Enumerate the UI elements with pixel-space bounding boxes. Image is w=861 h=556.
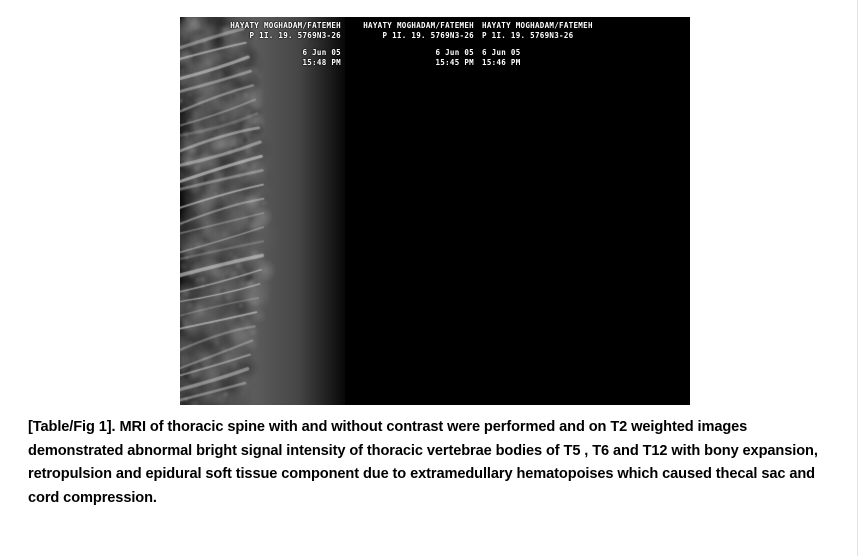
mri-panel-2: HAYATY MOGHADAM/FATEMEH P 1I. 19. 5769N3… (345, 17, 478, 405)
page-edge-rule (857, 0, 858, 556)
mri-panel-3: HAYATY MOGHADAM/FATEMEH P 1I. 19. 5769N3… (478, 17, 690, 405)
mri-figure-plate: HAYATY MOGHADAM/FATEMEH P 1I. 19. 5769N3… (180, 17, 690, 405)
mri-image-panel-1 (180, 17, 345, 405)
figure-caption: [Table/Fig 1]. MRI of thoracic spine wit… (28, 416, 818, 510)
mri-panel-row: HAYATY MOGHADAM/FATEMEH P 1I. 19. 5769N3… (180, 17, 690, 405)
mri-image-panel-3 (478, 17, 690, 405)
mri-image-panel-2 (345, 17, 478, 405)
mri-panel-1: HAYATY MOGHADAM/FATEMEH P 1I. 19. 5769N3… (180, 17, 345, 405)
